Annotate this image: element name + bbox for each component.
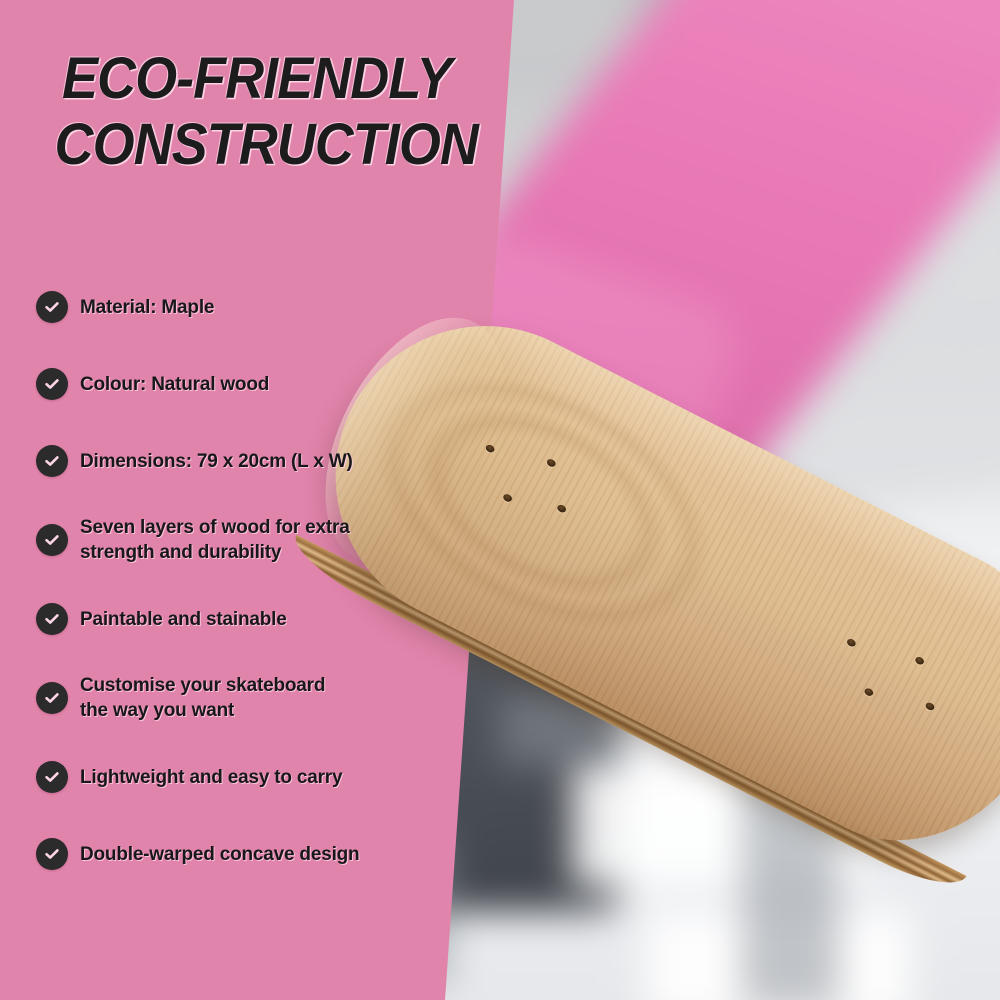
list-item-label: Colour: Natural wood [80, 372, 269, 397]
list-item-line-2: strength and durability [80, 540, 350, 565]
list-item-line-1: Material: Maple [80, 295, 214, 320]
list-item: Colour: Natural wood [36, 361, 436, 407]
check-circle-icon [36, 524, 68, 556]
list-item: Double-warped concave design [36, 831, 436, 877]
list-item-label: Double-warped concave design [80, 842, 359, 867]
list-item-line-1: Dimensions: 79 x 20cm (L x W) [80, 449, 353, 474]
list-item-line-1: Lightweight and easy to carry [80, 765, 342, 790]
list-item-label: Paintable and stainable [80, 607, 287, 632]
check-circle-icon [36, 761, 68, 793]
list-item: Seven layers of wood for extra strength … [36, 515, 436, 565]
title-line-1: ECO-FRIENDLY [62, 46, 478, 112]
list-item: Customise your skateboard the way you wa… [36, 673, 436, 723]
background-dark-shape [500, 694, 621, 767]
list-item-line-1: Paintable and stainable [80, 607, 287, 632]
title-line-2: CONSTRUCTION [55, 112, 478, 178]
list-item: Paintable and stainable [36, 596, 436, 642]
product-banner: ECO-FRIENDLY CONSTRUCTION Material: Mapl… [0, 0, 1000, 1000]
background-dark-shape [742, 742, 839, 1000]
list-item: Dimensions: 79 x 20cm (L x W) [36, 438, 436, 484]
check-circle-icon [36, 838, 68, 870]
list-item: Material: Maple [36, 284, 436, 330]
check-circle-icon [36, 368, 68, 400]
check-circle-icon [36, 291, 68, 323]
list-item: Lightweight and easy to carry [36, 754, 436, 800]
page-title: ECO-FRIENDLY CONSTRUCTION [62, 46, 478, 178]
list-item-line-1: Customise your skateboard [80, 673, 325, 698]
list-item-label: Seven layers of wood for extra strength … [80, 515, 350, 565]
list-item-line-1: Colour: Natural wood [80, 372, 269, 397]
check-circle-icon [36, 603, 68, 635]
list-item-line-2: the way you want [80, 698, 325, 723]
list-item-line-1: Seven layers of wood for extra [80, 515, 350, 540]
check-circle-icon [36, 445, 68, 477]
list-item-label: Material: Maple [80, 295, 214, 320]
list-item-line-1: Double-warped concave design [80, 842, 359, 867]
list-item-label: Dimensions: 79 x 20cm (L x W) [80, 449, 353, 474]
list-item-label: Customise your skateboard the way you wa… [80, 673, 325, 723]
feature-list: Material: Maple Colour: Natural wood Dim… [36, 284, 436, 877]
check-circle-icon [36, 682, 68, 714]
list-item-label: Lightweight and easy to carry [80, 765, 342, 790]
